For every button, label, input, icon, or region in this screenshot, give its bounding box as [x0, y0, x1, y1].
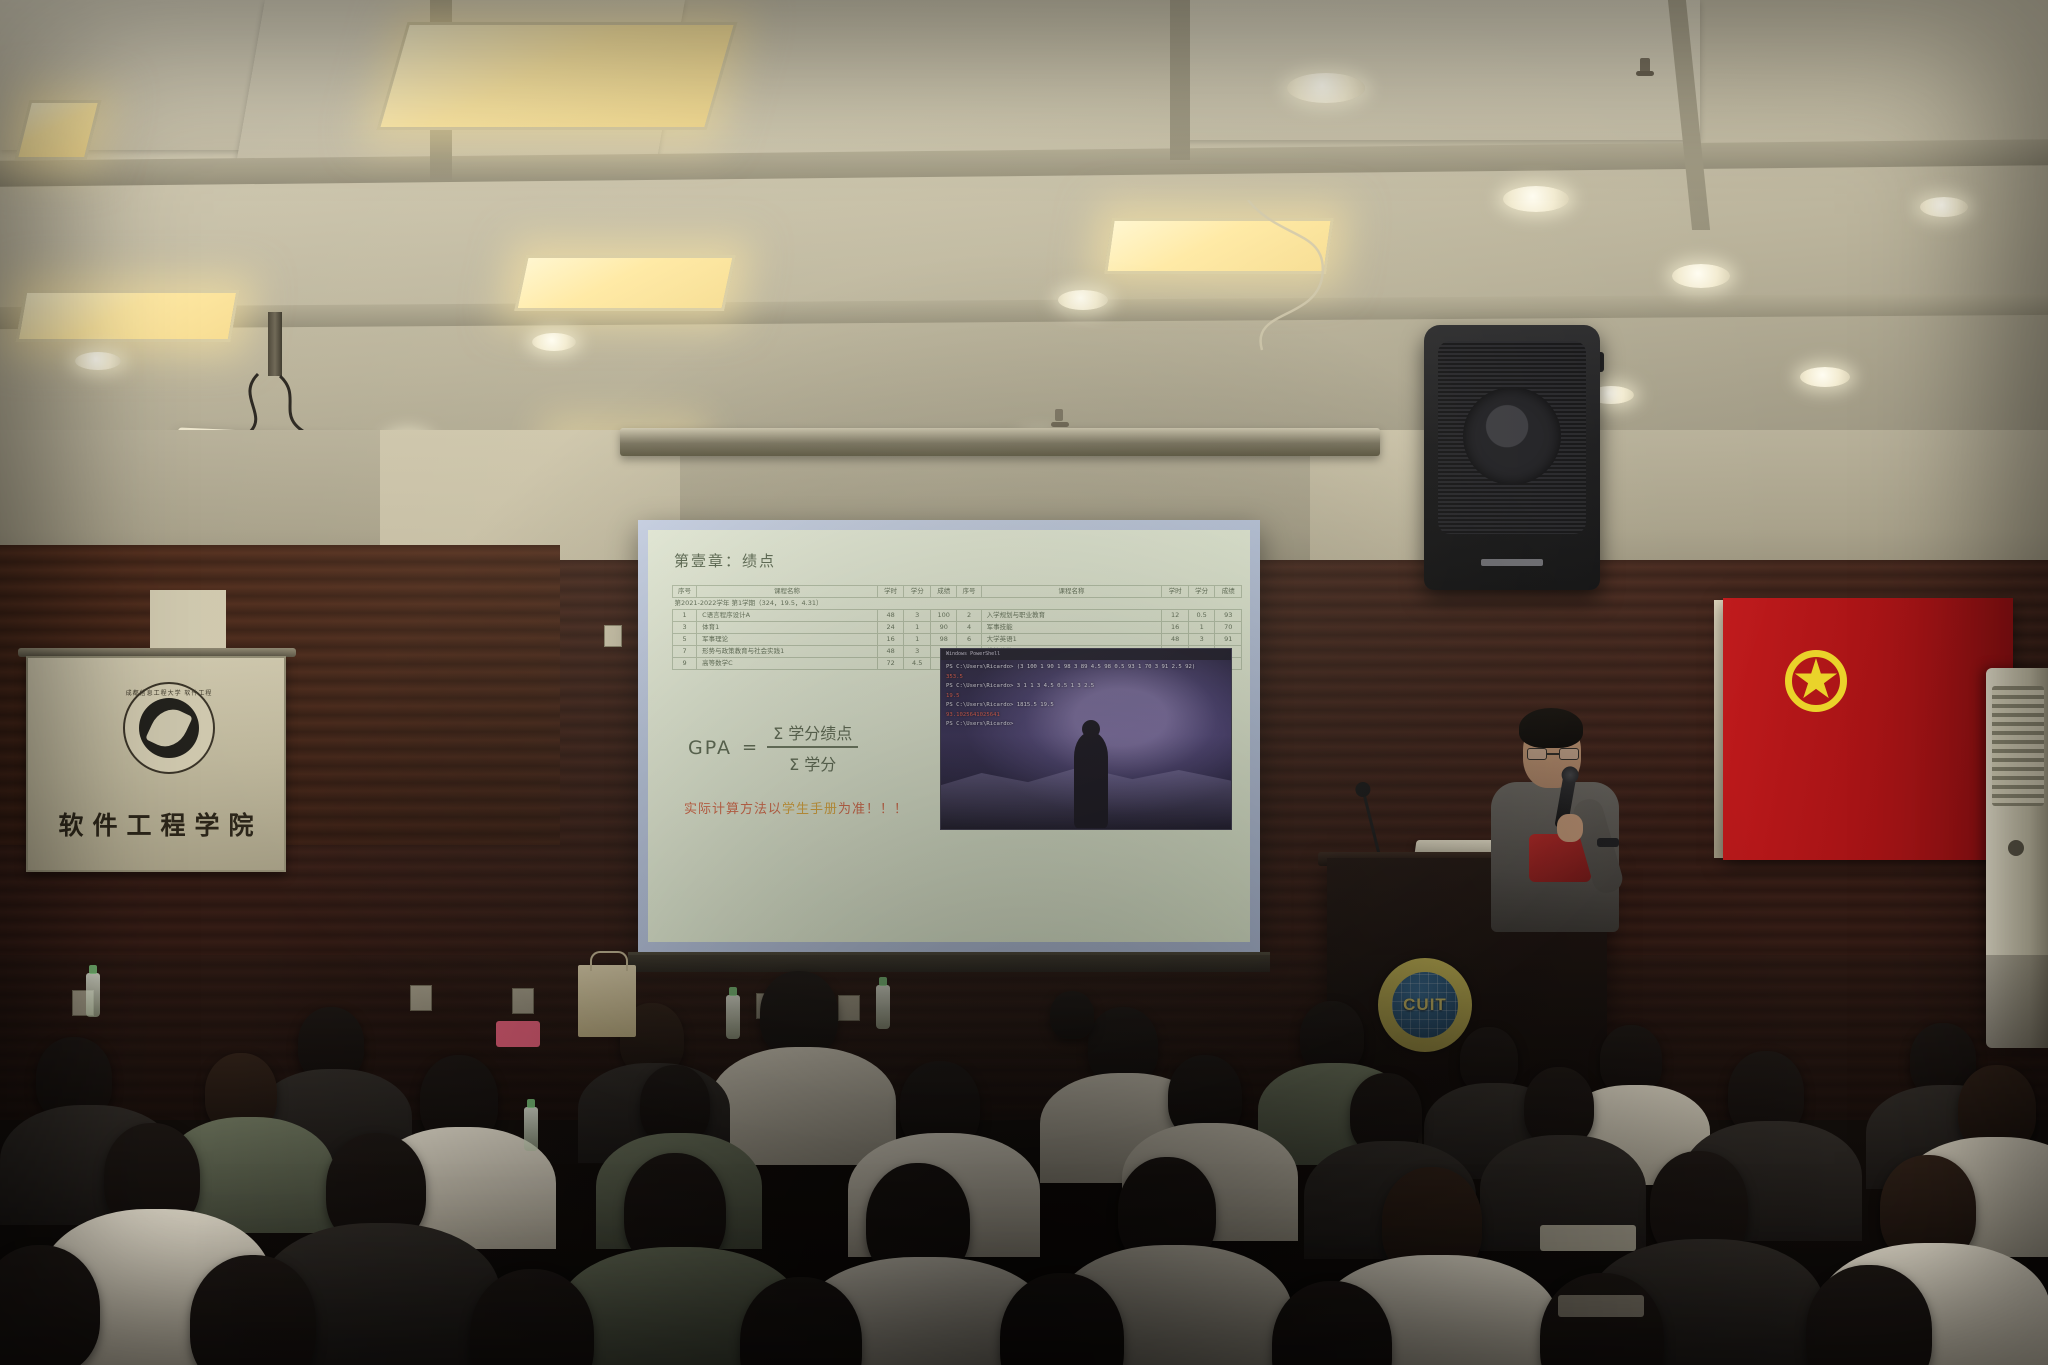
sprinkler-head [1055, 409, 1063, 421]
cell-score-r: 91 [1215, 634, 1242, 646]
projector-mount-pole [268, 312, 282, 376]
cell-idx: 3 [673, 622, 697, 634]
presenter-hand [1557, 814, 1583, 842]
cell-hours-r: 12 [1162, 610, 1189, 622]
terminal-titlebar: Windows PowerShell [941, 649, 1231, 660]
terminal-line: 19.5 [946, 692, 1227, 702]
gpa-label: GPA [688, 737, 732, 759]
th-name: 课程名称 [697, 586, 878, 598]
cell-idx: 7 [673, 646, 697, 658]
cell-hours: 72 [877, 658, 904, 670]
gpa-fraction: Σ 学分绩点 Σ 学分 [767, 720, 858, 775]
gpa-disclaimer-note: 实际计算方法以学生手册为准！！！ [684, 798, 908, 817]
th-score-r: 成绩 [1215, 586, 1242, 598]
school-emblem-icon: 成都信息工程大学 软件工程学院 [123, 682, 215, 774]
ceiling-panel-light [377, 22, 738, 130]
terminal-line: PS C:\Users\Ricardo> 3 1 1 3 4.5 0.5 1 3… [946, 682, 1227, 692]
speaker-brand-badge [1481, 559, 1543, 566]
lecture-hall-photo: 成都信息工程大学 软件工程学院 软件工程学院 第壹章：绩点 序号 课程名称 学 [0, 0, 2048, 1365]
gpa-denominator: Σ 学分 [767, 748, 858, 775]
table-header-row: 序号 课程名称 学时 学分 成绩 序号 课程名称 学时 学分 成绩 [673, 586, 1242, 598]
pink-item [496, 1021, 540, 1047]
cell-credits: 1 [904, 622, 931, 634]
glasses-lens-right [1559, 748, 1579, 760]
cell-score-r: 70 [1215, 622, 1242, 634]
cell-idx: 5 [673, 634, 697, 646]
table-row: 5 军事理论 16 1 98 6 大学英语1 48 3 91 [673, 634, 1242, 646]
flag-star-icon [1794, 658, 1838, 702]
water-bottle [876, 985, 890, 1029]
ceiling-slab [1180, 0, 1700, 140]
table-term-row: 第2021-2022学年 第1学期（324，19.5，4.31） [673, 598, 1242, 610]
notebook [1540, 1225, 1636, 1251]
pa-speaker [1424, 325, 1600, 590]
projection-screen-housing [620, 428, 1380, 456]
table-row: 1 C语言程序设计A 48 3 100 2 入学规划与职业教育 12 0.5 9… [673, 610, 1242, 622]
cell-score-r: 93 [1215, 610, 1242, 622]
gpa-formula: GPA = Σ 学分绩点 Σ 学分 [688, 720, 858, 775]
youth-league-flag [1723, 598, 2013, 860]
th-credits-r: 学分 [1188, 586, 1215, 598]
cell-credits-r: 3 [1188, 634, 1215, 646]
presenter [1455, 686, 1655, 926]
cell-credits: 3 [904, 610, 931, 622]
cell-score: 98 [930, 634, 957, 646]
ceiling-panel-light [15, 100, 102, 160]
water-bottle [524, 1107, 538, 1151]
cell-credits: 1 [904, 634, 931, 646]
cell-credits-r: 1 [1188, 622, 1215, 634]
cell-name: 体育1 [697, 622, 878, 634]
cell-hours: 48 [877, 610, 904, 622]
cell-name-r: 军事技能 [981, 622, 1162, 634]
cell-hours-r: 48 [1162, 634, 1189, 646]
cell-score: 90 [930, 622, 957, 634]
ceiling-panel-light [514, 255, 736, 311]
recessed-downlight [1287, 73, 1365, 103]
cell-idx: 9 [673, 658, 697, 670]
wristwatch [1597, 838, 1619, 847]
recessed-downlight [1920, 197, 1968, 217]
ceiling-panel-light [15, 290, 239, 342]
presentation-slide: 第壹章：绩点 序号 课程名称 学时 学分 成绩 序号 课程名称 学时 [648, 530, 1250, 942]
recessed-downlight [1058, 290, 1108, 310]
speaker-woofer-icon [1463, 387, 1561, 485]
water-bottle [726, 995, 740, 1039]
th-credits: 学分 [904, 586, 931, 598]
terminal-line: 93.1025641025641 [946, 711, 1227, 721]
term-label: 第2021-2022学年 第1学期（324，19.5，4.31） [673, 598, 1242, 610]
cell-name: 高等数学C [697, 658, 878, 670]
ac-control-knob[interactable] [2008, 840, 2024, 856]
gpa-numerator: Σ 学分绩点 [767, 720, 858, 748]
tote-bag [578, 965, 636, 1037]
audience-head [760, 971, 838, 1057]
cell-credits: 4.5 [904, 658, 931, 670]
presenter-hair [1519, 708, 1583, 748]
sprinkler-head [1640, 58, 1650, 74]
recessed-downlight [1672, 264, 1730, 288]
cell-idx-r: 2 [957, 610, 981, 622]
cell-name: 形势与政策教育与社会实践1 [697, 646, 878, 658]
water-bottle [86, 973, 100, 1017]
note-suffix: 为准！！！ [838, 802, 908, 817]
cell-hours: 16 [877, 634, 904, 646]
ceiling-beam [1170, 0, 1190, 160]
glasses-icon [1527, 748, 1579, 760]
th-hours: 学时 [877, 586, 904, 598]
ac-louvers [1992, 686, 2044, 806]
audience-area [0, 955, 2048, 1365]
cell-credits-r: 0.5 [1188, 610, 1215, 622]
th-idx: 序号 [673, 586, 697, 598]
cell-hours-r: 16 [1162, 622, 1189, 634]
school-banner: 成都信息工程大学 软件工程学院 软件工程学院 [26, 656, 286, 872]
emblem-swirl-icon [145, 703, 193, 754]
recessed-downlight [1503, 186, 1569, 212]
cell-name-r: 入学规划与职业教育 [981, 610, 1162, 622]
note-prefix: 实际计算方法以 [684, 802, 782, 817]
note-highlight: 学生手册 [782, 802, 838, 817]
projection-screen: 第壹章：绩点 序号 课程名称 学时 学分 成绩 序号 课程名称 学时 [638, 520, 1260, 952]
cell-name: 军事理论 [697, 634, 878, 646]
th-score: 成绩 [930, 586, 957, 598]
recessed-downlight [1800, 367, 1850, 387]
flag-emblem-ring-icon [1785, 650, 1847, 712]
wall-vent-plate [150, 590, 226, 652]
terminal-line: 353.5 [946, 673, 1227, 683]
cell-idx-r: 4 [957, 622, 981, 634]
hanging-cable [1210, 200, 1350, 360]
cell-name-r: 大学英语1 [981, 634, 1162, 646]
cell-credits: 3 [904, 646, 931, 658]
cell-score: 100 [930, 610, 957, 622]
recessed-downlight [532, 333, 576, 351]
terminal-output: PS C:\Users\Ricardo> (3 100 1 90 1 98 3 … [946, 663, 1227, 730]
wall-socket [604, 625, 622, 647]
recessed-downlight [75, 352, 121, 370]
notebook [1558, 1295, 1644, 1317]
cell-hours: 48 [877, 646, 904, 658]
table-row: 3 体育1 24 1 90 4 军事技能 16 1 70 [673, 622, 1242, 634]
th-name-r: 课程名称 [981, 586, 1162, 598]
cell-idx: 1 [673, 610, 697, 622]
audience-head [1050, 991, 1094, 1039]
cell-hours: 24 [877, 622, 904, 634]
cell-name: C语言程序设计A [697, 610, 878, 622]
terminal-line: PS C:\Users\Ricardo> (3 100 1 90 1 98 3 … [946, 663, 1227, 673]
glasses-lens-left [1527, 748, 1547, 760]
terminal-line: PS C:\Users\Ricardo> [946, 720, 1227, 730]
wallpaper-silhouette-figure [1074, 732, 1108, 828]
powershell-screenshot: Windows PowerShell PS C:\Users\Ricardo> … [940, 648, 1232, 830]
cell-idx-r: 6 [957, 634, 981, 646]
th-hours-r: 学时 [1162, 586, 1189, 598]
gpa-equals: = [742, 737, 757, 758]
th-idx-r: 序号 [957, 586, 981, 598]
emblem-inner-disc [139, 698, 199, 758]
slide-title: 第壹章：绩点 [674, 550, 776, 571]
glasses-bridge [1547, 753, 1559, 755]
terminal-line: PS C:\Users\Ricardo> 1815.5 19.5 [946, 701, 1227, 711]
banner-school-name: 软件工程学院 [28, 806, 284, 842]
